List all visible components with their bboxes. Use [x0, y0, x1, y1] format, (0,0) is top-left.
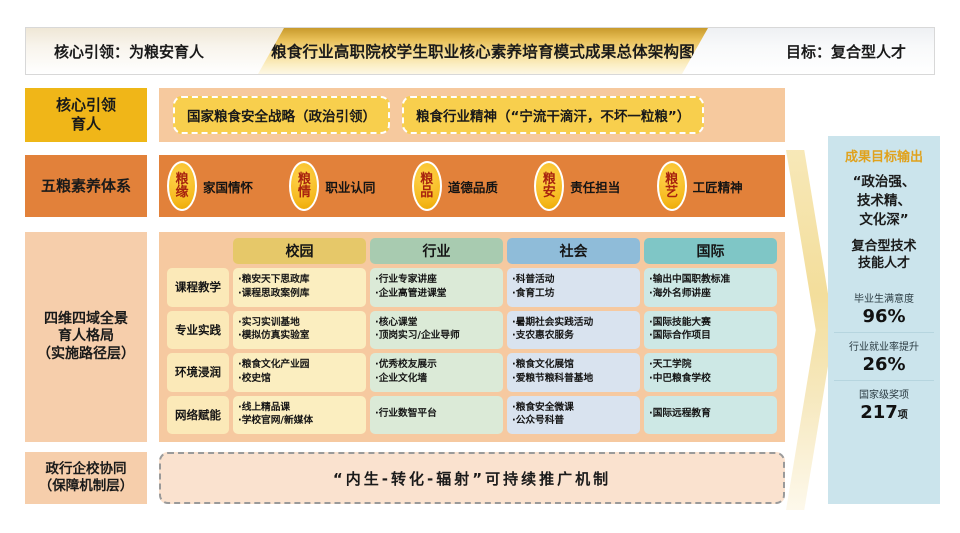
matrix-row-label-environment[interactable]: 环境浸润	[167, 353, 229, 392]
matrix-item: 暑期社会实践活动	[512, 317, 635, 330]
matrix-cell-r1c2[interactable]: 行业专家讲座 企业高管进课堂	[370, 268, 503, 307]
matrix-cell-r2c4[interactable]: 国际技能大赛 国际合作项目	[644, 311, 777, 350]
grain-ellipse-5: 粮 艺	[657, 161, 687, 211]
matrix-body: 校园 行业 社会 国际 课程教学 粮安天下思政库 课程思政案例库 行业专家讲座 …	[157, 232, 785, 442]
matrix-item: 行业数智平台	[375, 408, 498, 421]
matrix-cell-r4c2[interactable]: 行业数智平台	[370, 396, 503, 435]
matrix-cell-r2c2[interactable]: 核心课堂 顶岗实习/企业导师	[370, 311, 503, 350]
mechanism-label-line2: （保障机制层）	[39, 478, 134, 495]
matrix-item: 公众号科普	[512, 415, 635, 428]
matrix-item: 顶岗实习/企业导师	[375, 330, 498, 343]
stat-graduate-satisfaction: 毕业生满意度 96%	[834, 285, 934, 332]
row-mechanism: 政行企校协同 （保障机制层） “内生-转化-辐射”可持续推广机制	[25, 452, 785, 504]
row-label-matrix: 四维四域全景 育人格局 （实施路径层）	[25, 232, 147, 442]
matrix-column-header-campus[interactable]: 校园	[233, 238, 366, 264]
matrix-item: 支农惠农服务	[512, 330, 635, 343]
matrix-item: 课程思政案例库	[238, 288, 361, 301]
grain-char-1b: 缘	[175, 186, 188, 199]
matrix-item: 企业文化墙	[375, 373, 498, 386]
outcome-quote-line1: “政治强、	[853, 173, 916, 192]
matrix-cell-r3c3[interactable]: 粮食文化展馆 爱粮节粮科普基地	[507, 353, 640, 392]
stat-unit: 项	[898, 410, 908, 421]
matrix-row-label-practice[interactable]: 专业实践	[167, 311, 229, 350]
matrix-item: 校史馆	[238, 373, 361, 386]
matrix-cell-r4c1[interactable]: 线上精品课 学校官网/新媒体	[233, 396, 366, 435]
grain-ellipse-2: 粮 情	[289, 161, 319, 211]
stat-label: 毕业生满意度	[834, 290, 934, 305]
outcome-sub-line2: 技能人才	[851, 255, 916, 273]
architecture-diagram: 核心引领：为粮安育人 粮食行业高职院校学生职业核心素养培育模式成果总体架构图 目…	[0, 0, 960, 533]
literacy-label-3: 道德品质	[448, 177, 498, 196]
matrix-cell-r1c3[interactable]: 科普活动 食育工坊	[507, 268, 640, 307]
stat-employment-increase: 行业就业率提升 26%	[834, 332, 934, 380]
core-item-spirit[interactable]: 粮食行业精神（“宁流干滴汗，不坏一粒粮”）	[402, 96, 704, 134]
matrix-item: 国际合作项目	[649, 330, 772, 343]
literacy-label-1: 家国情怀	[203, 177, 253, 196]
matrix-item: 学校官网/新媒体	[238, 415, 361, 428]
matrix-cell-r4c4[interactable]: 国际远程教育	[644, 396, 777, 435]
matrix-cell-r2c1[interactable]: 实习实训基地 模拟仿真实验室	[233, 311, 366, 350]
grain-char-1a: 粮	[175, 173, 188, 186]
matrix-item: 国际远程教育	[649, 408, 772, 421]
matrix-grid: 校园 行业 社会 国际 课程教学 粮安天下思政库 课程思政案例库 行业专家讲座 …	[167, 238, 777, 434]
row-core-guidance: 核心引领 育人 国家粮食安全战略（政治引领） 粮食行业精神（“宁流干滴汗，不坏一…	[25, 88, 785, 142]
matrix-item: 天工学院	[649, 359, 772, 372]
outcome-stats: 毕业生满意度 96% 行业就业率提升 26% 国家级奖项 217项	[834, 285, 934, 428]
matrix-label-line1: 四维四域全景	[37, 311, 135, 329]
matrix-item: 爱粮节粮科普基地	[512, 373, 635, 386]
matrix-item: 输出中国职教标准	[649, 274, 772, 287]
matrix-item: 中巴粮食学校	[649, 373, 772, 386]
chevron-right-icon	[786, 150, 834, 510]
row-label-mechanism: 政行企校协同 （保障机制层）	[25, 452, 147, 504]
matrix-item: 粮食文化产业园	[238, 359, 361, 372]
stat-value-wrap: 217项	[834, 402, 934, 423]
literacy-label-2: 职业认同	[325, 177, 375, 196]
matrix-item: 企业高管进课堂	[375, 288, 498, 301]
matrix-item: 线上精品课	[238, 402, 361, 415]
matrix-cell-r2c3[interactable]: 暑期社会实践活动 支农惠农服务	[507, 311, 640, 350]
matrix-cell-r1c1[interactable]: 粮安天下思政库 课程思政案例库	[233, 268, 366, 307]
matrix-column-header-industry[interactable]: 行业	[370, 238, 503, 264]
matrix-item: 科普活动	[512, 274, 635, 287]
matrix-cell-r1c4[interactable]: 输出中国职教标准 海外名师讲座	[644, 268, 777, 307]
matrix-item: 粮安天下思政库	[238, 274, 361, 287]
literacy-label-5: 工匠精神	[693, 177, 743, 196]
stat-label: 国家级奖项	[834, 386, 934, 401]
row-matrix: 四维四域全景 育人格局 （实施路径层） 校园 行业 社会 国际 课程教学 粮安天…	[25, 232, 785, 442]
matrix-row-label-digital[interactable]: 网络赋能	[167, 396, 229, 435]
outcome-subtitle: 复合型技术 技能人才	[851, 238, 916, 273]
matrix-cell-r3c1[interactable]: 粮食文化产业园 校史馆	[233, 353, 366, 392]
stat-national-awards: 国家级奖项 217项	[834, 380, 934, 428]
matrix-cell-r3c2[interactable]: 优秀校友展示 企业文化墙	[370, 353, 503, 392]
matrix-column-header-international[interactable]: 国际	[644, 238, 777, 264]
literacy-unit-5[interactable]: 粮 艺 工匠精神	[657, 161, 777, 211]
stat-value: 96%	[834, 306, 934, 327]
outcome-quote-line3: 文化深”	[853, 211, 916, 230]
outcome-panel: 成果目标输出 “政治强、 技术精、 文化深” 复合型技术 技能人才 毕业生满意度…	[828, 136, 940, 504]
diagram-title: 粮食行业高职院校学生职业核心素养培育模式成果总体架构图	[271, 40, 695, 62]
row-label-literacy-system: 五粮素养体系	[25, 155, 147, 217]
grain-ellipse-3: 粮 品	[412, 161, 442, 211]
literacy-units: 粮 缘 家国情怀 粮 情 职业认同 粮 品 道德品质	[157, 155, 785, 217]
literacy-unit-4[interactable]: 粮 安 责任担当	[534, 161, 654, 211]
grain-char-4b: 安	[543, 186, 556, 199]
matrix-item: 实习实训基地	[238, 317, 361, 330]
core-label-line2: 育人	[56, 115, 116, 134]
mechanism-banner[interactable]: “内生-转化-辐射”可持续推广机制	[159, 452, 785, 504]
matrix-cell-r4c3[interactable]: 粮食安全微课 公众号科普	[507, 396, 640, 435]
grain-char-5a: 粮	[665, 173, 678, 186]
matrix-item: 核心课堂	[375, 317, 498, 330]
grain-ellipse-1: 粮 缘	[167, 161, 197, 211]
grain-ellipse-4: 粮 安	[534, 161, 564, 211]
matrix-item: 食育工坊	[512, 288, 635, 301]
stat-value: 26%	[834, 354, 934, 375]
outcome-sub-line1: 复合型技术	[851, 238, 916, 256]
stat-value: 217	[860, 402, 898, 423]
row-literacy-system: 五粮素养体系 粮 缘 家国情怀 粮 情 职业认同 粮 品	[25, 155, 785, 217]
literacy-unit-3[interactable]: 粮 品 道德品质	[412, 161, 532, 211]
matrix-column-header-society[interactable]: 社会	[507, 238, 640, 264]
matrix-row-label-curriculum[interactable]: 课程教学	[167, 268, 229, 307]
outcome-quote: “政治强、 技术精、 文化深”	[853, 173, 916, 230]
matrix-item: 优秀校友展示	[375, 359, 498, 372]
literacy-label-4: 责任担当	[570, 177, 620, 196]
title-left-text: 核心引领：为粮安育人	[54, 28, 204, 74]
matrix-item: 粮食安全微课	[512, 402, 635, 415]
mechanism-label-line1: 政行企校协同	[39, 461, 134, 478]
grain-char-5b: 艺	[665, 186, 678, 199]
core-label-line1: 核心引领	[56, 96, 116, 115]
title-bar: 核心引领：为粮安育人 粮食行业高职院校学生职业核心素养培育模式成果总体架构图 目…	[25, 27, 935, 75]
grain-char-2a: 粮	[298, 173, 311, 186]
matrix-cell-r3c4[interactable]: 天工学院 中巴粮食学校	[644, 353, 777, 392]
title-right-text: 目标：复合型人才	[786, 28, 906, 74]
row-label-core-guidance: 核心引领 育人	[25, 88, 147, 142]
grain-char-3a: 粮	[420, 173, 433, 186]
matrix-item: 国际技能大赛	[649, 317, 772, 330]
core-guidance-items: 国家粮食安全战略（政治引领） 粮食行业精神（“宁流干滴汗，不坏一粒粮”）	[159, 88, 785, 142]
matrix-label-line3: （实施路径层）	[37, 346, 135, 364]
matrix-item: 行业专家讲座	[375, 274, 498, 287]
grain-char-4a: 粮	[543, 173, 556, 186]
literacy-unit-1[interactable]: 粮 缘 家国情怀	[167, 161, 287, 211]
title-center-banner: 粮食行业高职院校学生职业核心素养培育模式成果总体架构图	[258, 28, 708, 74]
outcome-quote-line2: 技术精、	[853, 192, 916, 211]
stat-label: 行业就业率提升	[834, 338, 934, 353]
matrix-item: 模拟仿真实验室	[238, 330, 361, 343]
matrix-item: 海外名师讲座	[649, 288, 772, 301]
literacy-unit-2[interactable]: 粮 情 职业认同	[289, 161, 409, 211]
matrix-label-line2: 育人格局	[37, 328, 135, 346]
grain-char-2b: 情	[298, 186, 311, 199]
matrix-item: 粮食文化展馆	[512, 359, 635, 372]
core-item-strategy[interactable]: 国家粮食安全战略（政治引领）	[173, 96, 390, 134]
grain-char-3b: 品	[420, 186, 433, 199]
matrix-corner-spacer	[167, 238, 229, 264]
outcome-panel-title: 成果目标输出	[845, 146, 923, 165]
mechanism-text: “内生-转化-辐射”可持续推广机制	[333, 468, 611, 489]
